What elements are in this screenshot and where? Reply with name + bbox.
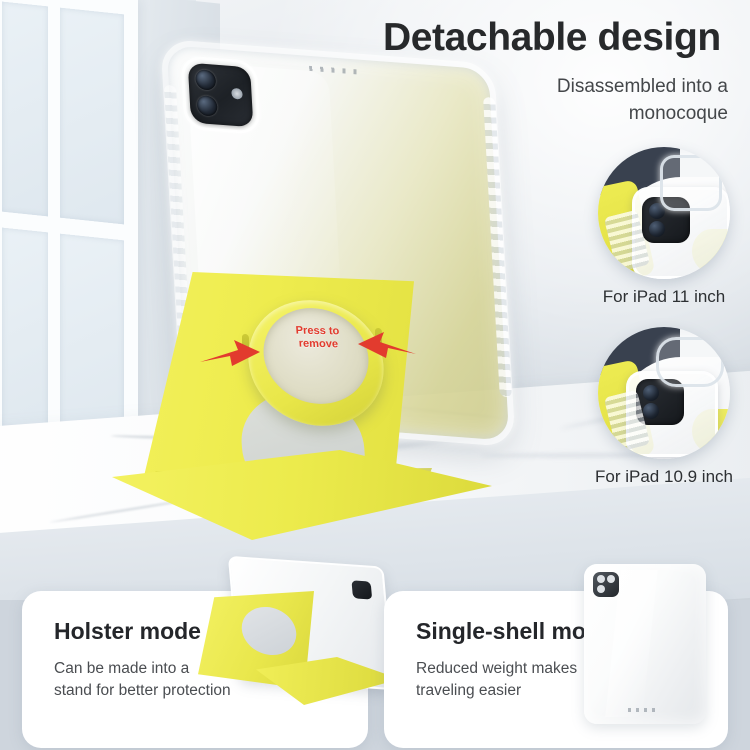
camera-lens <box>643 403 659 419</box>
camera-lens <box>649 221 665 237</box>
camera-lens <box>643 385 659 401</box>
speaker-dots <box>628 708 658 712</box>
camera-module <box>593 572 619 597</box>
subtitle-line-2: monocoque <box>629 103 728 124</box>
thumbnail-label-ipad-11: For iPad 11 inch <box>598 287 730 307</box>
thumbnail-label-ipad-109: For iPad 10.9 inch <box>588 467 740 487</box>
window-pane <box>2 228 48 433</box>
feature-card-holster-image <box>198 561 398 711</box>
callout-arrows <box>92 272 492 537</box>
desc-line-2: traveling easier <box>416 682 521 699</box>
page-subtitle: Disassembled into a monocoque <box>428 73 728 127</box>
desc-line-1: Reduced weight makes <box>416 660 577 677</box>
detached-clear-shell <box>660 155 722 211</box>
thumbnail-ipad-11[interactable] <box>598 147 730 279</box>
page-title: Detachable design <box>383 16 721 60</box>
feature-card-single-shell-image <box>584 564 706 724</box>
desc-line-1: Can be made into a <box>54 660 189 677</box>
feature-card-title: Holster mode <box>54 618 201 645</box>
yellow-rotating-stand: Press to remove <box>92 272 492 537</box>
feature-card-description: Reduced weight makes traveling easier <box>416 658 577 702</box>
product-marketing-image: Press to remove Detachable design Disass… <box>0 0 750 750</box>
thumbnail-ipad-109[interactable] <box>598 327 730 459</box>
detached-clear-shell <box>656 337 724 387</box>
camera-module <box>351 580 372 599</box>
subtitle-line-1: Disassembled into a <box>557 76 728 97</box>
thumbnail-image-ipad-109 <box>598 327 730 459</box>
thumbnail-image-ipad-11 <box>598 147 730 279</box>
window-pane <box>2 2 48 217</box>
window-pane <box>60 8 124 225</box>
